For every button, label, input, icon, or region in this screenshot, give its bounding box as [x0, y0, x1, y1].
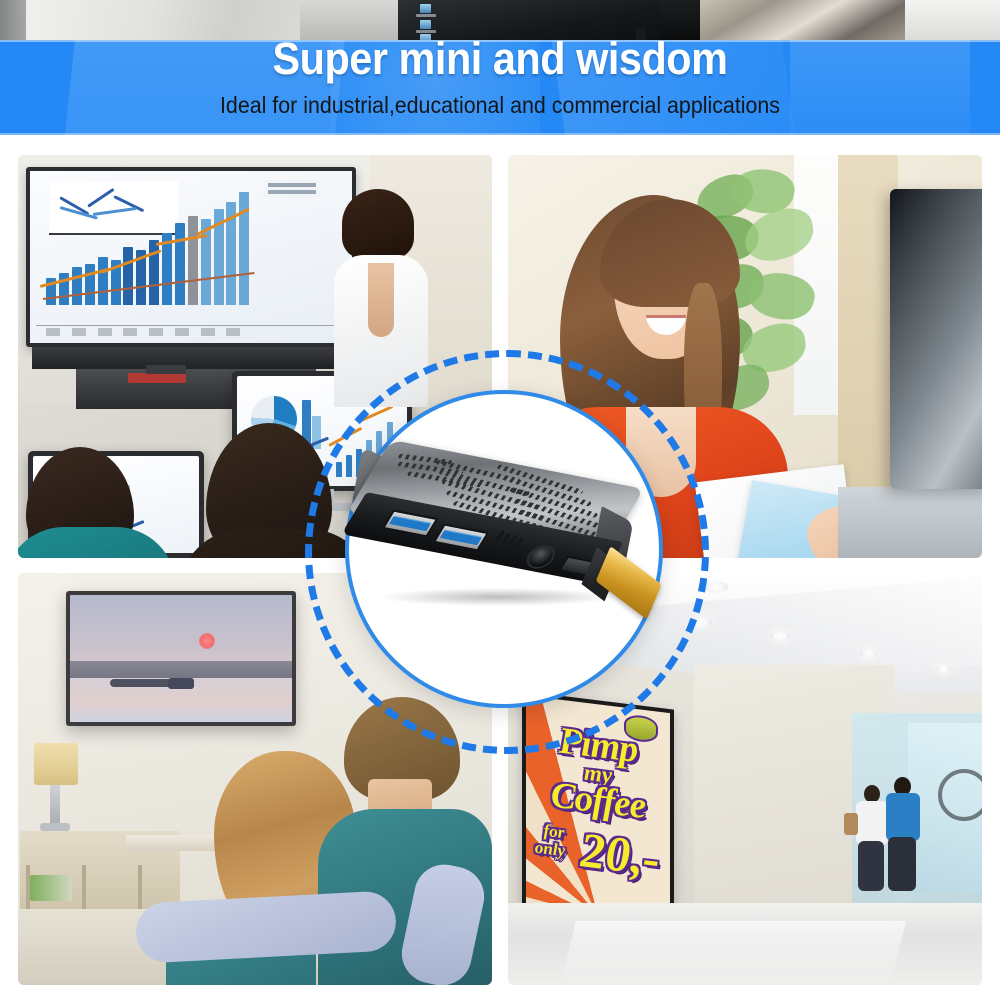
shopper-legs [858, 841, 884, 891]
treeline [70, 661, 292, 678]
mouth-smile [646, 315, 686, 335]
product-mini-pc-stick [348, 452, 648, 622]
teacher-hair [342, 189, 414, 259]
ceiling-downlight [704, 581, 728, 593]
usb-3-0-port[interactable] [433, 523, 490, 551]
headline-subtitle: Ideal for industrial,educational and com… [35, 93, 965, 118]
ceiling-downlight [936, 665, 951, 673]
headline-title: Super mini and wisdom [40, 36, 960, 82]
chart-axis [36, 325, 345, 326]
boat [168, 678, 194, 689]
display-stand-bar [32, 347, 352, 369]
teacher-neckline [368, 263, 394, 337]
shelf-item-red [128, 373, 186, 383]
dc-power-jack[interactable] [522, 543, 560, 571]
chart-legend [264, 180, 320, 198]
shopper-body [856, 801, 888, 845]
office-desk [838, 487, 982, 558]
ceiling-downlight [770, 631, 790, 641]
floor-reflection [560, 921, 906, 985]
lamp-shade [34, 743, 78, 785]
lamp-base [50, 785, 60, 827]
product-body-group [335, 425, 662, 649]
strip-shadow-left [0, 0, 26, 42]
desktop-icon [420, 20, 431, 29]
shopper-body [886, 793, 920, 841]
chart-line-segment [93, 207, 137, 216]
wall-mounted-tv [66, 591, 296, 726]
product-marketing-image: Super mini and wisdom Ideal for industri… [0, 0, 1000, 1000]
chart-inset-panel [49, 181, 178, 235]
office-monitor [890, 189, 982, 489]
tv-screen [70, 595, 292, 722]
presentation-display [26, 167, 356, 347]
books-on-shelf [30, 875, 72, 901]
shelf-book [146, 365, 186, 374]
ceiling-downlight [860, 649, 877, 658]
usb-3-0-port[interactable] [382, 510, 439, 538]
chart-line-segment [87, 188, 114, 208]
desktop-icon [420, 4, 431, 13]
lamp-foot [40, 823, 70, 831]
banner-bottom-edge [0, 133, 1000, 135]
shopper-bag [844, 813, 858, 835]
presentation-chart [30, 171, 352, 343]
boat [110, 679, 172, 687]
shopper-legs [888, 837, 916, 891]
sunset-sun [199, 633, 215, 649]
poster-line-5: 20,- [548, 820, 670, 888]
display-object [938, 769, 982, 821]
desktop-icon-label [416, 14, 436, 17]
